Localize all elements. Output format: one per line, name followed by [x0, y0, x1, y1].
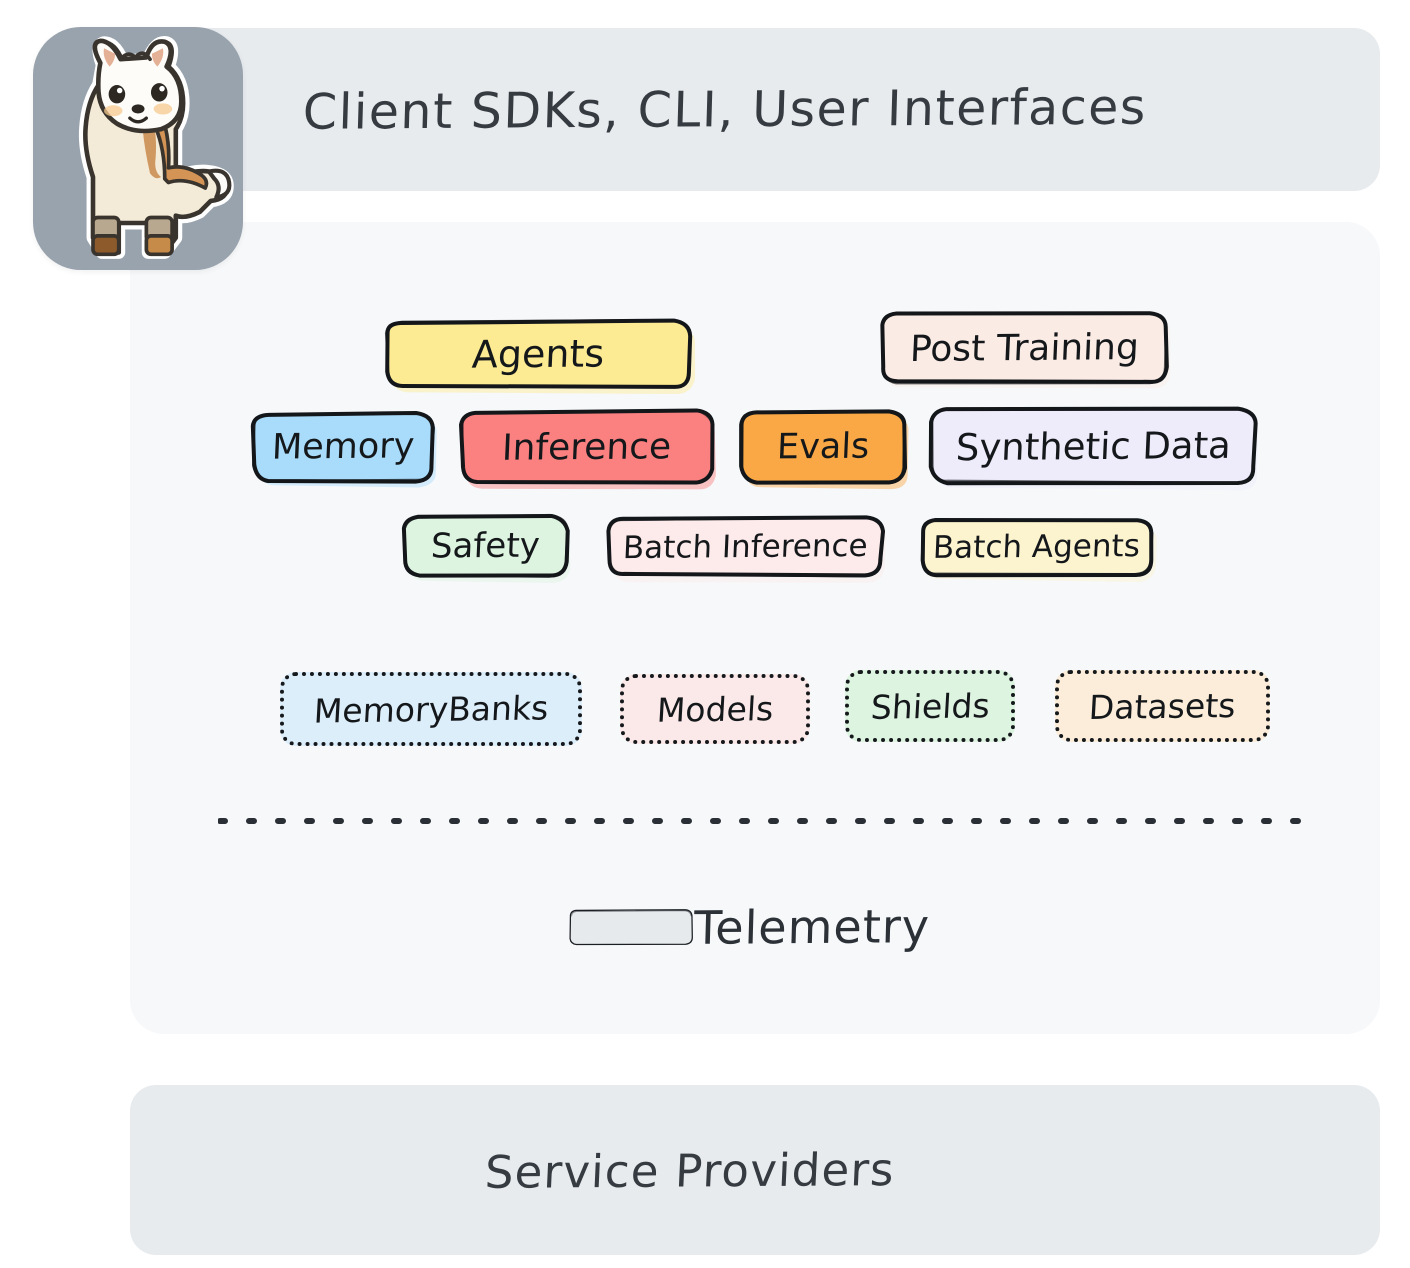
api-box-inference[interactable]: Inference [458, 408, 715, 486]
resource-box-memorybanks[interactable]: MemoryBanks [280, 672, 582, 746]
resource-box-datasets[interactable]: Datasets [1055, 670, 1270, 742]
resource-box-label: Datasets [1088, 685, 1237, 726]
api-box-label: Synthetic Data [955, 423, 1232, 468]
llama-logo [33, 27, 243, 270]
api-box-label: Memory [271, 426, 415, 467]
api-box-evals[interactable]: Evals [738, 408, 908, 486]
telemetry-label: Telemetry [693, 899, 931, 955]
api-box-batch-agents[interactable]: Batch Agents [918, 516, 1155, 578]
resource-box-label: Shields [870, 686, 991, 727]
api-box-label: Inference [501, 426, 672, 468]
diagram-canvas: Client SDKs, CLI, User Interfaces [0, 0, 1410, 1268]
resource-box-shields[interactable]: Shields [845, 670, 1015, 742]
llama-icon [33, 27, 243, 270]
api-box-label: Post Training [909, 327, 1140, 370]
api-box-synthetic-data[interactable]: Synthetic Data [928, 406, 1258, 486]
dotted-divider [218, 818, 1316, 824]
api-box-memory[interactable]: Memory [250, 410, 436, 484]
api-box-label: Safety [430, 526, 541, 567]
footer-title: Service Providers [484, 1142, 1026, 1199]
telemetry-box[interactable]: Telemetry [568, 872, 930, 982]
api-box-label: Batch Agents [932, 528, 1141, 566]
client-layer-band: Client SDKs, CLI, User Interfaces [130, 28, 1380, 191]
telemetry-box-outline [568, 908, 694, 946]
api-box-safety[interactable]: Safety [400, 513, 570, 579]
header-title: Client SDKs, CLI, User Interfaces [302, 78, 1208, 141]
api-box-batch-inference[interactable]: Batch Inference [605, 515, 885, 579]
service-providers-band: Service Providers [130, 1085, 1380, 1255]
api-box-label: Evals [776, 427, 870, 468]
resource-box-label: MemoryBanks [313, 688, 550, 730]
api-box-post-training[interactable]: Post Training [878, 310, 1170, 386]
api-box-agents[interactable]: Agents [383, 318, 694, 390]
resource-box-models[interactable]: Models [620, 674, 810, 744]
api-box-label: Agents [471, 331, 605, 376]
api-box-label: Batch Inference [622, 528, 868, 566]
resource-box-label: Models [656, 689, 775, 730]
